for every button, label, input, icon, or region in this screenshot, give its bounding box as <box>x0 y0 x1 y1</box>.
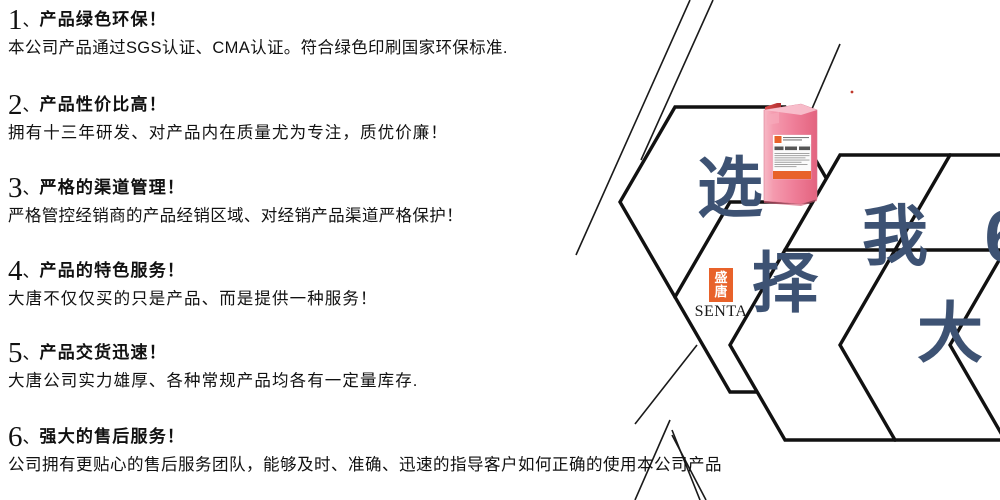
reason-separator-3: 、 <box>23 179 40 198</box>
reason-number-3: 3 <box>8 172 23 204</box>
reason-headline-1: 产品绿色环保！ <box>40 10 167 29</box>
honeycomb-outlines <box>500 0 1000 500</box>
reason-number-6: 6 <box>8 421 23 453</box>
reason-headline-4: 产品的特色服务！ <box>40 261 186 280</box>
reason-number-5: 5 <box>8 337 23 369</box>
reason-separator-5: 、 <box>23 344 40 363</box>
reason-headline-2: 产品性价比高！ <box>40 95 167 114</box>
reason-number-1: 1 <box>8 4 23 36</box>
reason-headline-6: 强大的售后服务！ <box>40 427 186 446</box>
reason-separator-4: 、 <box>23 262 40 281</box>
reason-headline-5: 产品交货迅速！ <box>40 343 167 362</box>
reason-number-4: 4 <box>8 255 23 287</box>
reason-separator-2: 、 <box>23 96 40 115</box>
honeycomb-slogan: 选 择 我 们 6 大 理 由 <box>500 0 1000 500</box>
promo-banner: 1、产品绿色环保！ 本公司产品通过SGS认证、CMA认证。符合绿色印刷国家环保标… <box>0 0 1000 500</box>
reason-number-2: 2 <box>8 89 23 121</box>
reason-headline-3: 严格的渠道管理！ <box>40 178 186 197</box>
reason-separator-6: 、 <box>23 428 40 447</box>
reason-separator-1: 、 <box>23 11 40 30</box>
